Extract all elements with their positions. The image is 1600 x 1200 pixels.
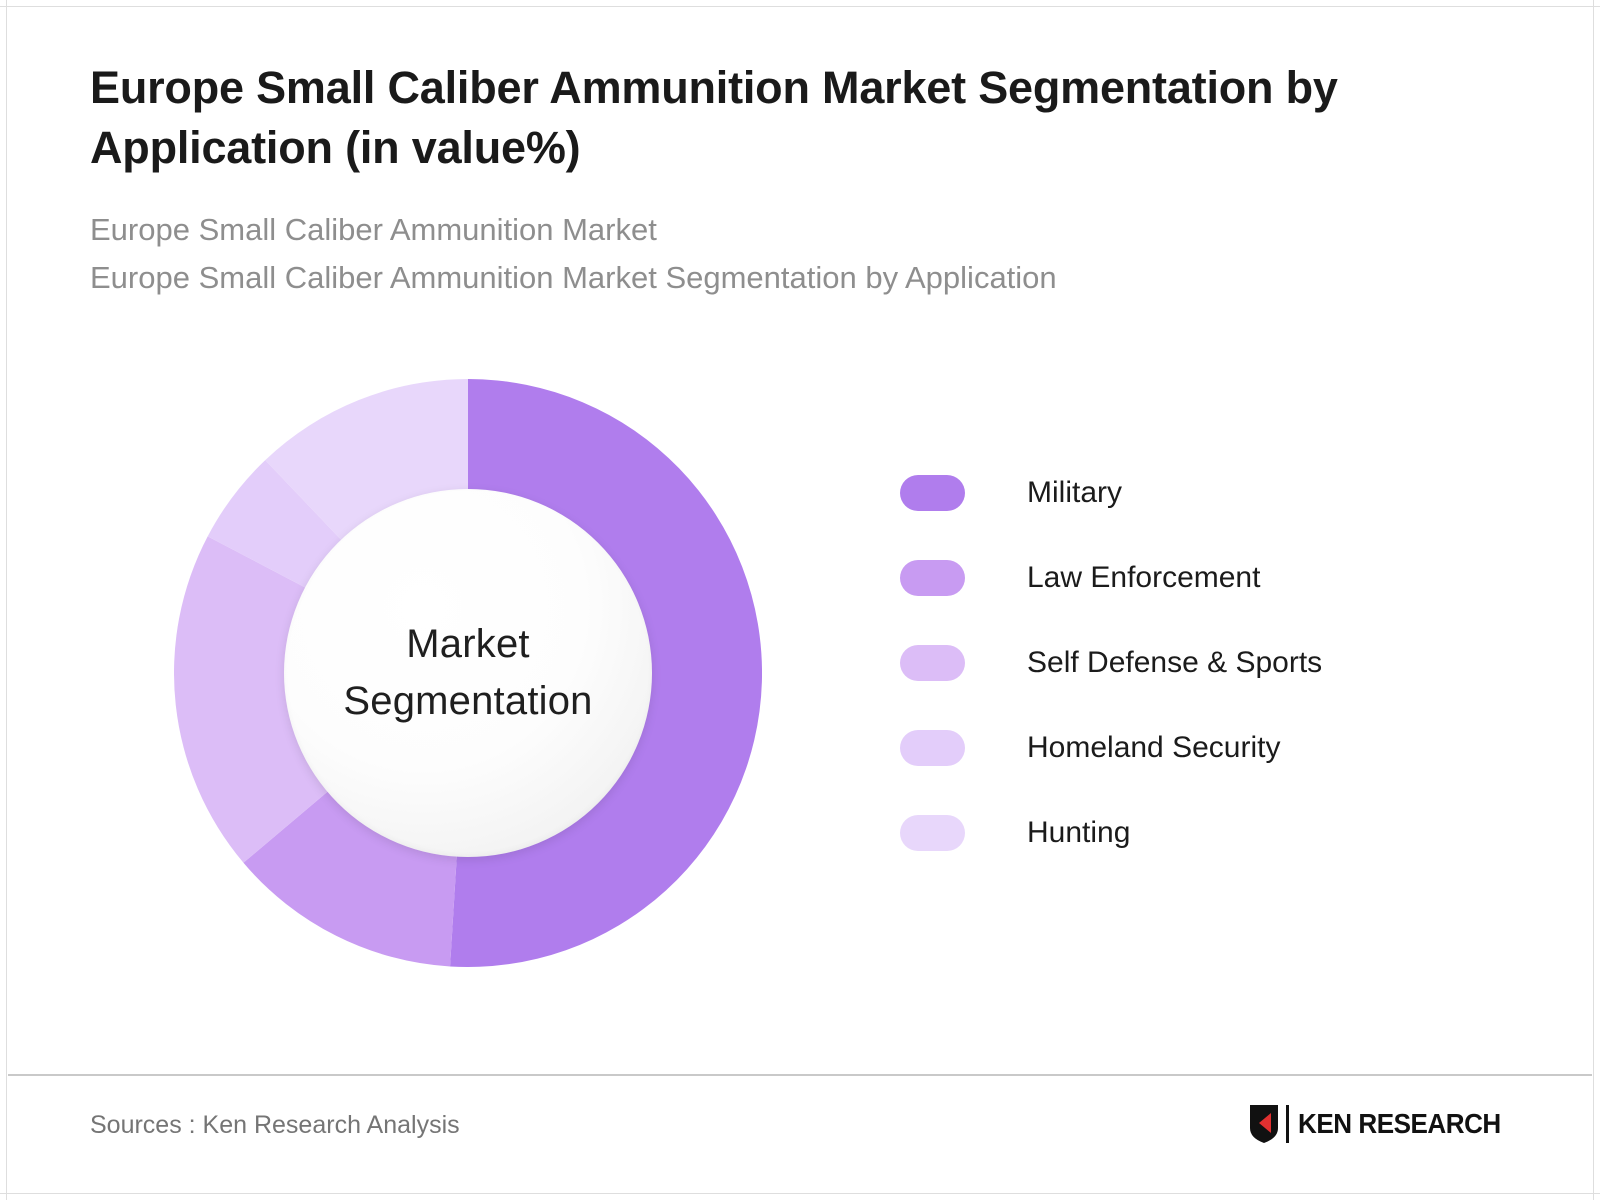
subtitle-line-1: Europe Small Caliber Ammunition Market	[90, 206, 1520, 254]
brand-name: KEN RESEARCH	[1298, 1108, 1501, 1140]
legend-item-military[interactable]: Military	[900, 450, 1322, 535]
legend-item-law-enforcement[interactable]: Law Enforcement	[900, 535, 1322, 620]
sources-text: Sources : Ken Research Analysis	[90, 1111, 460, 1140]
legend-label: Self Defense & Sports	[1027, 646, 1322, 680]
legend-swatch-icon	[900, 815, 965, 851]
donut-center: Market Segmentation	[284, 489, 652, 857]
chart-legend: Military Law Enforcement Self Defense & …	[900, 450, 1322, 875]
legend-item-homeland-security[interactable]: Homeland Security	[900, 705, 1322, 790]
donut-chart: Market Segmentation	[174, 379, 762, 967]
page-title: Europe Small Caliber Ammunition Market S…	[90, 58, 1520, 178]
subtitle-line-2: Europe Small Caliber Ammunition Market S…	[90, 254, 1520, 302]
subtitle-block: Europe Small Caliber Ammunition Market E…	[90, 206, 1520, 302]
chart-page: Europe Small Caliber Ammunition Market S…	[0, 0, 1600, 1200]
legend-label: Hunting	[1027, 816, 1130, 850]
chart-area: Market Segmentation Military Law Enforce…	[0, 360, 1600, 1020]
legend-label: Military	[1027, 476, 1122, 510]
brand-logo: KEN RESEARCH	[1249, 1104, 1516, 1144]
legend-item-self-defense-sports[interactable]: Self Defense & Sports	[900, 620, 1322, 705]
legend-label: Law Enforcement	[1027, 561, 1260, 595]
donut-center-label: Market Segmentation	[284, 616, 652, 730]
legend-swatch-icon	[900, 730, 965, 766]
ken-research-shield-icon	[1249, 1104, 1279, 1144]
page-border-top	[0, 6, 1600, 7]
legend-swatch-icon	[900, 560, 965, 596]
legend-label: Homeland Security	[1027, 731, 1280, 765]
legend-item-hunting[interactable]: Hunting	[900, 790, 1322, 875]
legend-swatch-icon	[900, 645, 965, 681]
legend-swatch-icon	[900, 475, 965, 511]
brand-divider	[1286, 1105, 1289, 1143]
header: Europe Small Caliber Ammunition Market S…	[90, 58, 1520, 302]
footer: Sources : Ken Research Analysis KEN RESE…	[0, 1074, 1600, 1194]
